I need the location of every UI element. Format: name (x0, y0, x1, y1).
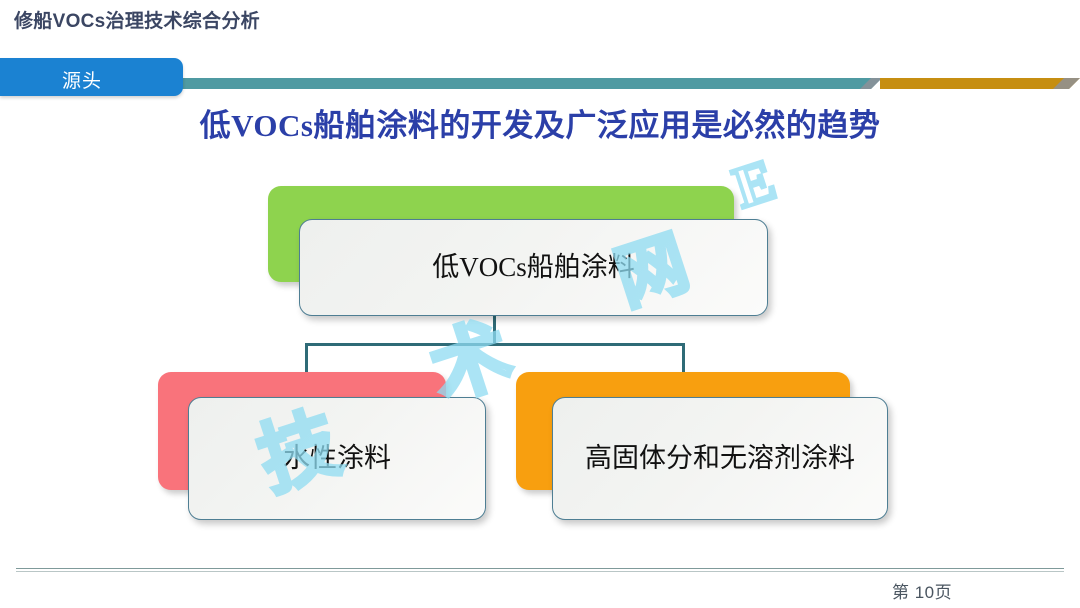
section-tab[interactable]: 源头 (0, 58, 183, 96)
node-accent-panel-waterborne (158, 372, 446, 490)
watermark-char-1: 技 (243, 381, 352, 512)
diagram-node-high-solid[interactable]: 高固体分和无溶剂涂料 (516, 372, 888, 520)
watermark-char-3: 网 (601, 207, 699, 325)
slide-title: 低VOCs船舶涂料的开发及广泛应用是必然的趋势 (0, 100, 1080, 145)
connector-root-stem (493, 316, 496, 345)
watermark-char-2: 术 (415, 291, 524, 422)
watermark-char-4: E (726, 146, 783, 222)
node-accent-panel-high-solid (516, 372, 850, 490)
ribbon-gold-bar (880, 78, 1080, 89)
node-label-high-solid: 高固体分和无溶剂涂料 (585, 442, 855, 475)
diagram-node-root[interactable]: 低VOCs船舶涂料 (268, 186, 768, 316)
node-accent-panel-root (268, 186, 734, 282)
connector-left-drop (305, 343, 308, 374)
section-tab-label: 源头 (62, 66, 102, 93)
node-card-root[interactable]: 低VOCs船舶涂料 (299, 219, 768, 316)
header-title: 修船VOCs治理技术综合分析 (14, 6, 260, 33)
page-number: 第 10页 (892, 578, 952, 603)
node-card-waterborne[interactable]: 水性涂料 (188, 397, 486, 520)
connector-crossbar (305, 343, 685, 346)
diagram-node-waterborne[interactable]: 水性涂料 (158, 372, 486, 520)
footer-divider-shadow (16, 571, 1064, 572)
footer-divider (16, 568, 1064, 569)
node-label-root: 低VOCs船舶涂料 (432, 251, 635, 284)
node-card-high-solid[interactable]: 高固体分和无溶剂涂料 (552, 397, 888, 520)
section-ribbon: 源头 (0, 56, 1080, 100)
ribbon-teal-bar (170, 78, 882, 89)
node-label-waterborne: 水性涂料 (283, 442, 391, 475)
connector-right-drop (682, 343, 685, 374)
